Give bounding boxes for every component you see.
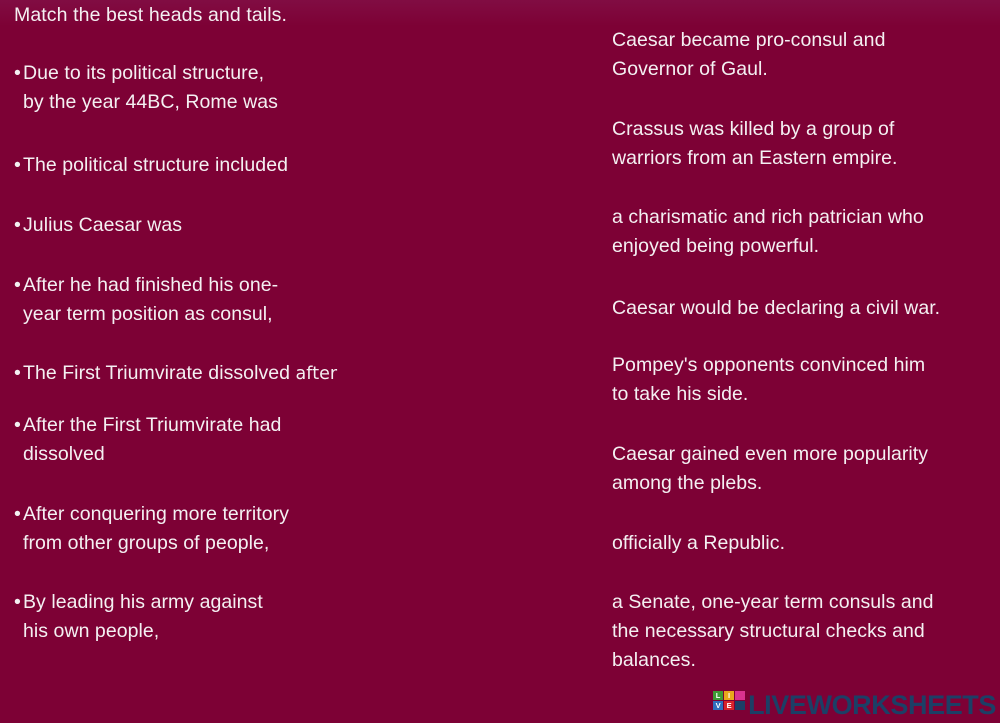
bullet-icon: • (14, 59, 23, 88)
head-item-line: his own people, (23, 617, 263, 646)
tail-item-line: Governor of Gaul. (612, 55, 1000, 84)
head-item[interactable]: •After the First Triumvirate haddissolve… (14, 411, 281, 469)
logo-tile-e: E (724, 701, 734, 710)
logo-tile-i: I (724, 691, 734, 700)
head-item-line: By leading his army against (23, 588, 263, 617)
bullet-icon: • (14, 411, 23, 440)
head-item[interactable]: •Julius Caesar was (14, 211, 182, 240)
tail-item[interactable]: Caesar gained even more popularityamong … (612, 440, 1000, 498)
tail-item-line: Caesar gained even more popularity (612, 440, 1000, 469)
head-item-text: After the First Triumvirate haddissolved (23, 411, 281, 469)
tail-item-line: a charismatic and rich patrician who (612, 203, 1000, 232)
tail-item-line: Caesar would be declaring a civil war. (612, 294, 1000, 323)
head-item-line: After the First Triumvirate had (23, 411, 281, 440)
tails-column: Caesar became pro-consul andGovernor of … (612, 0, 1000, 723)
head-item-line: Julius Caesar was (23, 211, 182, 240)
bullet-icon: • (14, 500, 23, 529)
tail-item-line: warriors from an Eastern empire. (612, 144, 1000, 173)
head-item-line: year term position as consul, (23, 300, 278, 329)
head-item-text: The First Triumvirate dissolved after (23, 359, 337, 389)
tail-item[interactable]: officially a Republic. (612, 529, 1000, 558)
head-item-line-part-alt: after (296, 364, 338, 384)
bullet-icon: • (14, 211, 23, 240)
head-item-text: Julius Caesar was (23, 211, 182, 240)
tail-item-line: balances. (612, 646, 1000, 675)
head-item[interactable]: •After he had finished his one-year term… (14, 271, 278, 329)
worksheet-canvas: Match the best heads and tails. •Due to … (0, 0, 1000, 723)
logo-tile-v: V (713, 701, 723, 710)
head-item-line: dissolved (23, 440, 281, 469)
head-item-text: Due to its political structure,by the ye… (23, 59, 278, 117)
head-item-line: After he had finished his one- (23, 271, 278, 300)
tail-item[interactable]: Caesar became pro-consul andGovernor of … (612, 26, 1000, 84)
head-item[interactable]: •The First Triumvirate dissolved after (14, 359, 337, 389)
tail-item[interactable]: a Senate, one-year term consuls andthe n… (612, 588, 1000, 675)
tail-item[interactable]: Caesar would be declaring a civil war. (612, 294, 1000, 323)
head-item-line: Due to its political structure, (23, 59, 278, 88)
head-item[interactable]: •The political structure included (14, 151, 288, 180)
liveworksheets-tiles-icon: LIVE (713, 691, 745, 720)
head-item-line: from other groups of people, (23, 529, 289, 558)
tail-item-line: Caesar became pro-consul and (612, 26, 1000, 55)
head-item-line: by the year 44BC, Rome was (23, 88, 278, 117)
tail-item-line: Crassus was killed by a group of (612, 115, 1000, 144)
liveworksheets-logo: LIVE LIVEWORKSHEETS (713, 690, 996, 720)
heads-column: •Due to its political structure,by the y… (0, 0, 600, 723)
head-item-line-part: The First Triumvirate dissolved (23, 362, 296, 384)
tail-item-line: Pompey's opponents convinced him (612, 351, 1000, 380)
head-item-line: The First Triumvirate dissolved after (23, 359, 337, 389)
head-item-text: After conquering more territoryfrom othe… (23, 500, 289, 558)
tail-item-line: a Senate, one-year term consuls and (612, 588, 1000, 617)
head-item-line: The political structure included (23, 151, 288, 180)
head-item[interactable]: •Due to its political structure,by the y… (14, 59, 278, 117)
tail-item-line: enjoyed being powerful. (612, 232, 1000, 261)
head-item-text: By leading his army againsthis own peopl… (23, 588, 263, 646)
head-item-text: The political structure included (23, 151, 288, 180)
head-item[interactable]: •After conquering more territoryfrom oth… (14, 500, 289, 558)
tail-item-line: officially a Republic. (612, 529, 1000, 558)
logo-tile-blank (735, 701, 745, 710)
bullet-icon: • (14, 271, 23, 300)
logo-tile-l: L (713, 691, 723, 700)
bullet-icon: • (14, 359, 23, 388)
bullet-icon: • (14, 588, 23, 617)
logo-tile-blank (735, 691, 745, 700)
tail-item[interactable]: a charismatic and rich patrician whoenjo… (612, 203, 1000, 261)
head-item[interactable]: •By leading his army againsthis own peop… (14, 588, 263, 646)
bullet-icon: • (14, 151, 23, 180)
tail-item[interactable]: Pompey's opponents convinced himto take … (612, 351, 1000, 409)
head-item-text: After he had finished his one-year term … (23, 271, 278, 329)
liveworksheets-wordmark: LIVEWORKSHEETS (748, 690, 996, 720)
tail-item[interactable]: Crassus was killed by a group ofwarriors… (612, 115, 1000, 173)
head-item-line: After conquering more territory (23, 500, 289, 529)
tail-item-line: among the plebs. (612, 469, 1000, 498)
tail-item-line: to take his side. (612, 380, 1000, 409)
tail-item-line: the necessary structural checks and (612, 617, 1000, 646)
